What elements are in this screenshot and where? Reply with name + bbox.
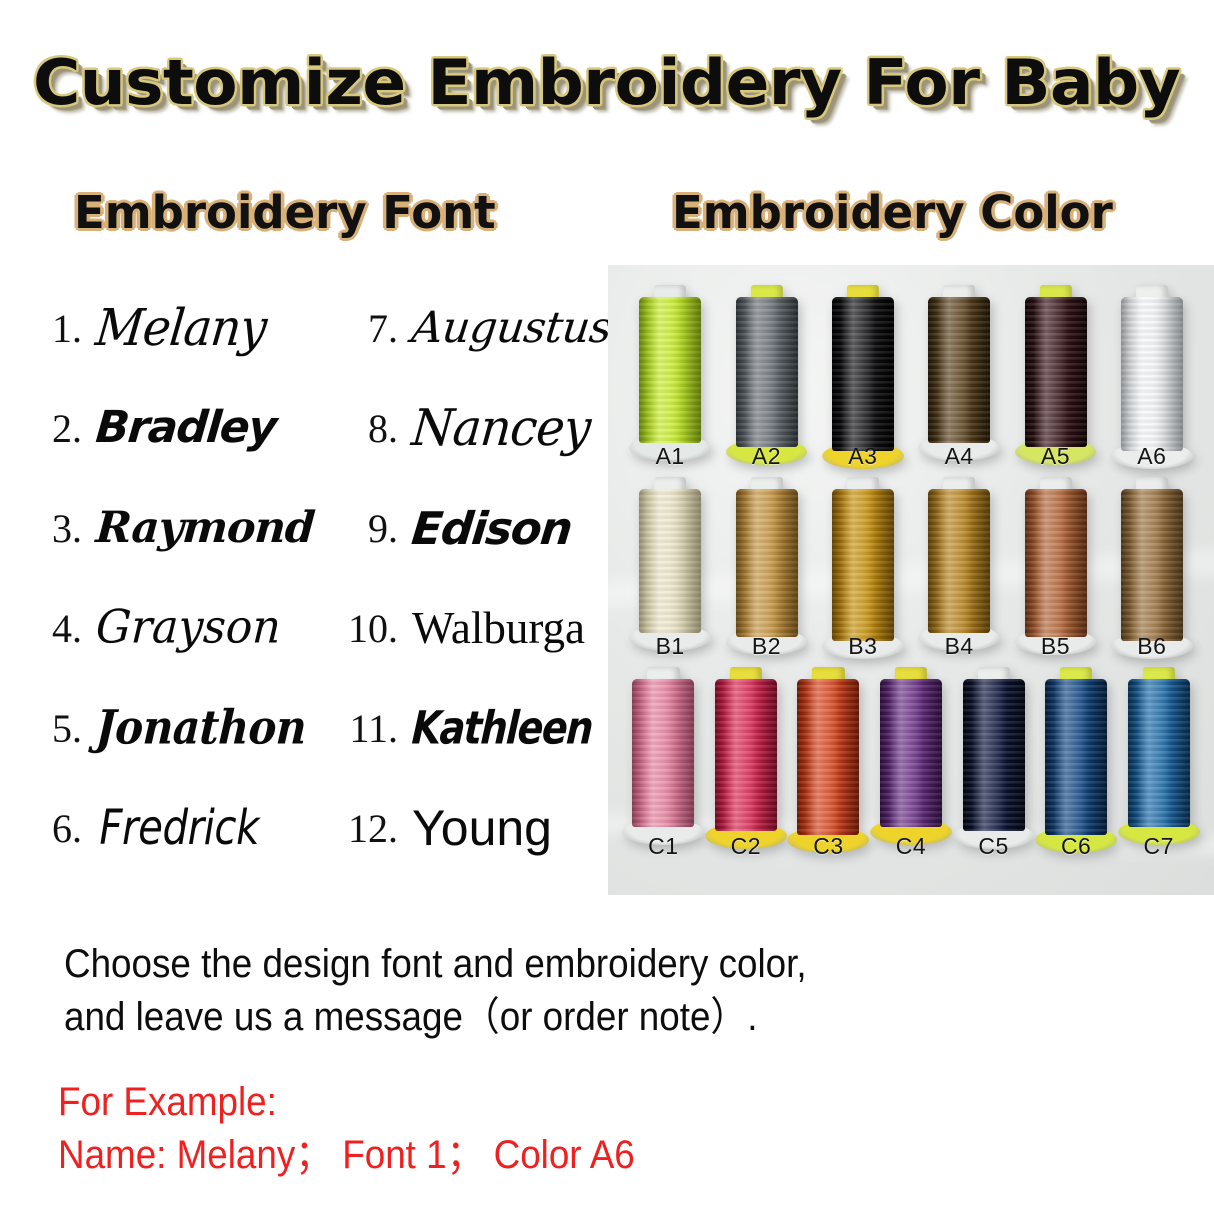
spool-thread-body xyxy=(736,489,798,637)
font-option-jonathon[interactable]: 5.Jonathon xyxy=(0,678,304,778)
thread-color-label-C4: C4 xyxy=(881,833,941,860)
spool-thread-body xyxy=(1128,679,1190,827)
example-text: For Example: Name: Melany； Font 1； Color… xyxy=(58,1076,635,1182)
spool-thread-body xyxy=(928,297,990,443)
font-option-fredrick[interactable]: 6.Fredrick xyxy=(0,778,304,878)
font-option-sample: Melany xyxy=(93,303,268,354)
font-column-right: 7.Augustus8.Nancey9.Edison10.Walburga11.… xyxy=(304,278,608,878)
spool-thread-body xyxy=(1121,297,1183,451)
page-title: Customize Embroidery For Baby xyxy=(33,46,1180,119)
thread-color-label-C7: C7 xyxy=(1129,833,1189,860)
thread-color-label-B6: B6 xyxy=(1122,633,1182,660)
font-option-sample: Walburga xyxy=(412,606,585,651)
thread-spool-A3[interactable] xyxy=(832,285,894,465)
thread-spool-B2[interactable] xyxy=(736,477,798,651)
instructions-text: Choose the design font and embroidery co… xyxy=(64,938,807,1044)
thread-spool-B6[interactable] xyxy=(1121,477,1183,655)
font-option-sample: Grayson xyxy=(95,605,282,651)
spool-thread-body xyxy=(639,489,701,633)
font-option-raymond[interactable]: 3.Raymond xyxy=(0,478,304,578)
font-option-bradley[interactable]: 2.Bradley xyxy=(0,378,304,478)
font-option-sample: Raymond xyxy=(94,507,315,550)
font-option-walburga[interactable]: 10.Walburga xyxy=(304,578,608,678)
spool-thread-body xyxy=(1045,679,1107,835)
font-option-number: 11. xyxy=(304,705,412,752)
title-bar: Customize Embroidery For Baby xyxy=(0,46,1214,119)
font-option-number: 6. xyxy=(0,805,96,852)
font-option-number: 8. xyxy=(304,405,412,452)
thread-spool-B3[interactable] xyxy=(832,477,894,655)
thread-color-label-C2: C2 xyxy=(716,833,776,860)
thread-spool-C1[interactable] xyxy=(632,667,694,841)
thread-color-label-A2: A2 xyxy=(737,443,797,470)
spool-thread-body xyxy=(715,679,777,831)
thread-spool-A2[interactable] xyxy=(736,285,798,461)
spool-thread-body xyxy=(797,679,859,835)
font-option-sample: Bradley xyxy=(94,406,277,450)
spool-thread-body xyxy=(832,489,894,641)
thread-color-label-C5: C5 xyxy=(964,833,1024,860)
font-option-sample: Nancey xyxy=(410,403,592,453)
thread-spool-B5[interactable] xyxy=(1025,477,1087,651)
thread-spool-A4[interactable] xyxy=(928,285,990,457)
thread-color-label-A6: A6 xyxy=(1122,443,1182,470)
thread-spool-A1[interactable] xyxy=(639,285,701,457)
font-option-number: 5. xyxy=(0,705,96,752)
font-option-number: 9. xyxy=(304,505,412,552)
example-line-1: For Example: xyxy=(58,1076,635,1129)
font-option-number: 2. xyxy=(0,405,96,452)
spool-thread-body xyxy=(928,489,990,633)
spool-thread-body xyxy=(832,297,894,451)
font-option-sample: Fredrick xyxy=(99,804,259,852)
font-option-sample: Augustus xyxy=(409,307,613,350)
font-option-nancey[interactable]: 8.Nancey xyxy=(304,378,608,478)
thread-color-label-B3: B3 xyxy=(833,633,893,660)
thread-color-label-C3: C3 xyxy=(798,833,858,860)
font-option-young[interactable]: 12.Young xyxy=(304,778,608,878)
font-option-number: 12. xyxy=(304,805,412,852)
thread-spool-C5[interactable] xyxy=(963,667,1025,845)
font-option-number: 3. xyxy=(0,505,96,552)
spool-thread-body xyxy=(632,679,694,827)
font-list: 1.Melany2.Bradley3.Raymond4.Grayson5.Jon… xyxy=(0,278,608,878)
font-column-left: 1.Melany2.Bradley3.Raymond4.Grayson5.Jon… xyxy=(0,278,304,878)
example-line-2: Name: Melany； Font 1； Color A6 xyxy=(58,1129,635,1182)
font-option-number: 4. xyxy=(0,605,96,652)
thread-spool-B1[interactable] xyxy=(639,477,701,647)
font-option-sample: Kathleen xyxy=(411,705,594,751)
thread-color-label-A3: A3 xyxy=(833,443,893,470)
thread-spool-C7[interactable] xyxy=(1128,667,1190,841)
font-option-grayson[interactable]: 4.Grayson xyxy=(0,578,304,678)
font-option-number: 10. xyxy=(304,605,412,652)
thread-color-label-A4: A4 xyxy=(929,443,989,470)
thread-color-label-B4: B4 xyxy=(929,633,989,660)
thread-spool-C2[interactable] xyxy=(715,667,777,845)
spool-thread-body xyxy=(1025,489,1087,637)
spool-thread-body xyxy=(1025,297,1087,447)
thread-color-label-B2: B2 xyxy=(737,633,797,660)
font-option-sample: Young xyxy=(412,803,552,853)
thread-color-label-A5: A5 xyxy=(1026,443,1086,470)
font-option-melany[interactable]: 1.Melany xyxy=(0,278,304,378)
thread-color-label-C6: C6 xyxy=(1046,833,1106,860)
embroidery-color-heading: Embroidery Color xyxy=(672,186,1113,239)
instructions-line-2: and leave us a message（or order note）. xyxy=(64,991,807,1044)
embroidery-font-heading: Embroidery Font xyxy=(74,186,496,239)
thread-spool-C3[interactable] xyxy=(797,667,859,849)
thread-spool-C4[interactable] xyxy=(880,667,942,841)
thread-color-label-B5: B5 xyxy=(1026,633,1086,660)
spool-thread-body xyxy=(1121,489,1183,641)
font-option-number: 1. xyxy=(0,305,96,352)
thread-spool-C6[interactable] xyxy=(1045,667,1107,849)
thread-color-label-A1: A1 xyxy=(640,443,700,470)
thread-color-chart-photo: A1A2A3A4A5A6B1B2B3B4B5B6C1C2C3C4C5C6C7 xyxy=(608,265,1214,895)
font-option-edison[interactable]: 9.Edison xyxy=(304,478,608,578)
font-option-number: 7. xyxy=(304,305,412,352)
spool-thread-body xyxy=(963,679,1025,831)
thread-color-label-C1: C1 xyxy=(633,833,693,860)
font-option-sample: Edison xyxy=(410,506,574,551)
spool-thread-body xyxy=(880,679,942,827)
thread-spool-B4[interactable] xyxy=(928,477,990,647)
spool-thread-body xyxy=(736,297,798,447)
instructions-line-1: Choose the design font and embroidery co… xyxy=(64,938,807,991)
font-option-sample: Jonathon xyxy=(95,704,308,751)
thread-color-label-B1: B1 xyxy=(640,633,700,660)
thread-spool-A6[interactable] xyxy=(1121,285,1183,465)
thread-spool-A5[interactable] xyxy=(1025,285,1087,461)
font-option-kathleen[interactable]: 11.Kathleen xyxy=(304,678,608,778)
spool-thread-body xyxy=(639,297,701,443)
font-option-augustus[interactable]: 7.Augustus xyxy=(304,278,608,378)
